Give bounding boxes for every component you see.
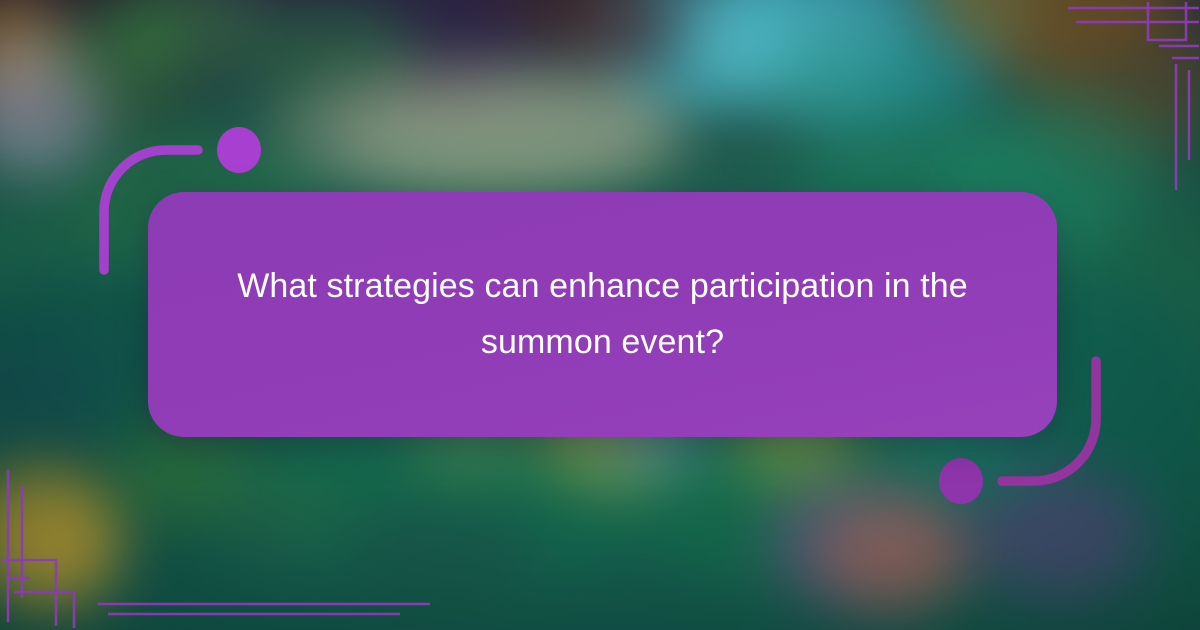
background-blob (0, 500, 120, 610)
background-blob (970, 470, 1150, 600)
question-card: What strategies can enhance participatio… (148, 192, 1057, 437)
question-text: What strategies can enhance participatio… (218, 259, 987, 369)
background-blob (190, 460, 350, 560)
background-blob (340, 500, 540, 610)
background-blob (340, 80, 670, 190)
screenshot-canvas: What strategies can enhance participatio… (0, 0, 1200, 630)
background-blob (820, 500, 970, 610)
